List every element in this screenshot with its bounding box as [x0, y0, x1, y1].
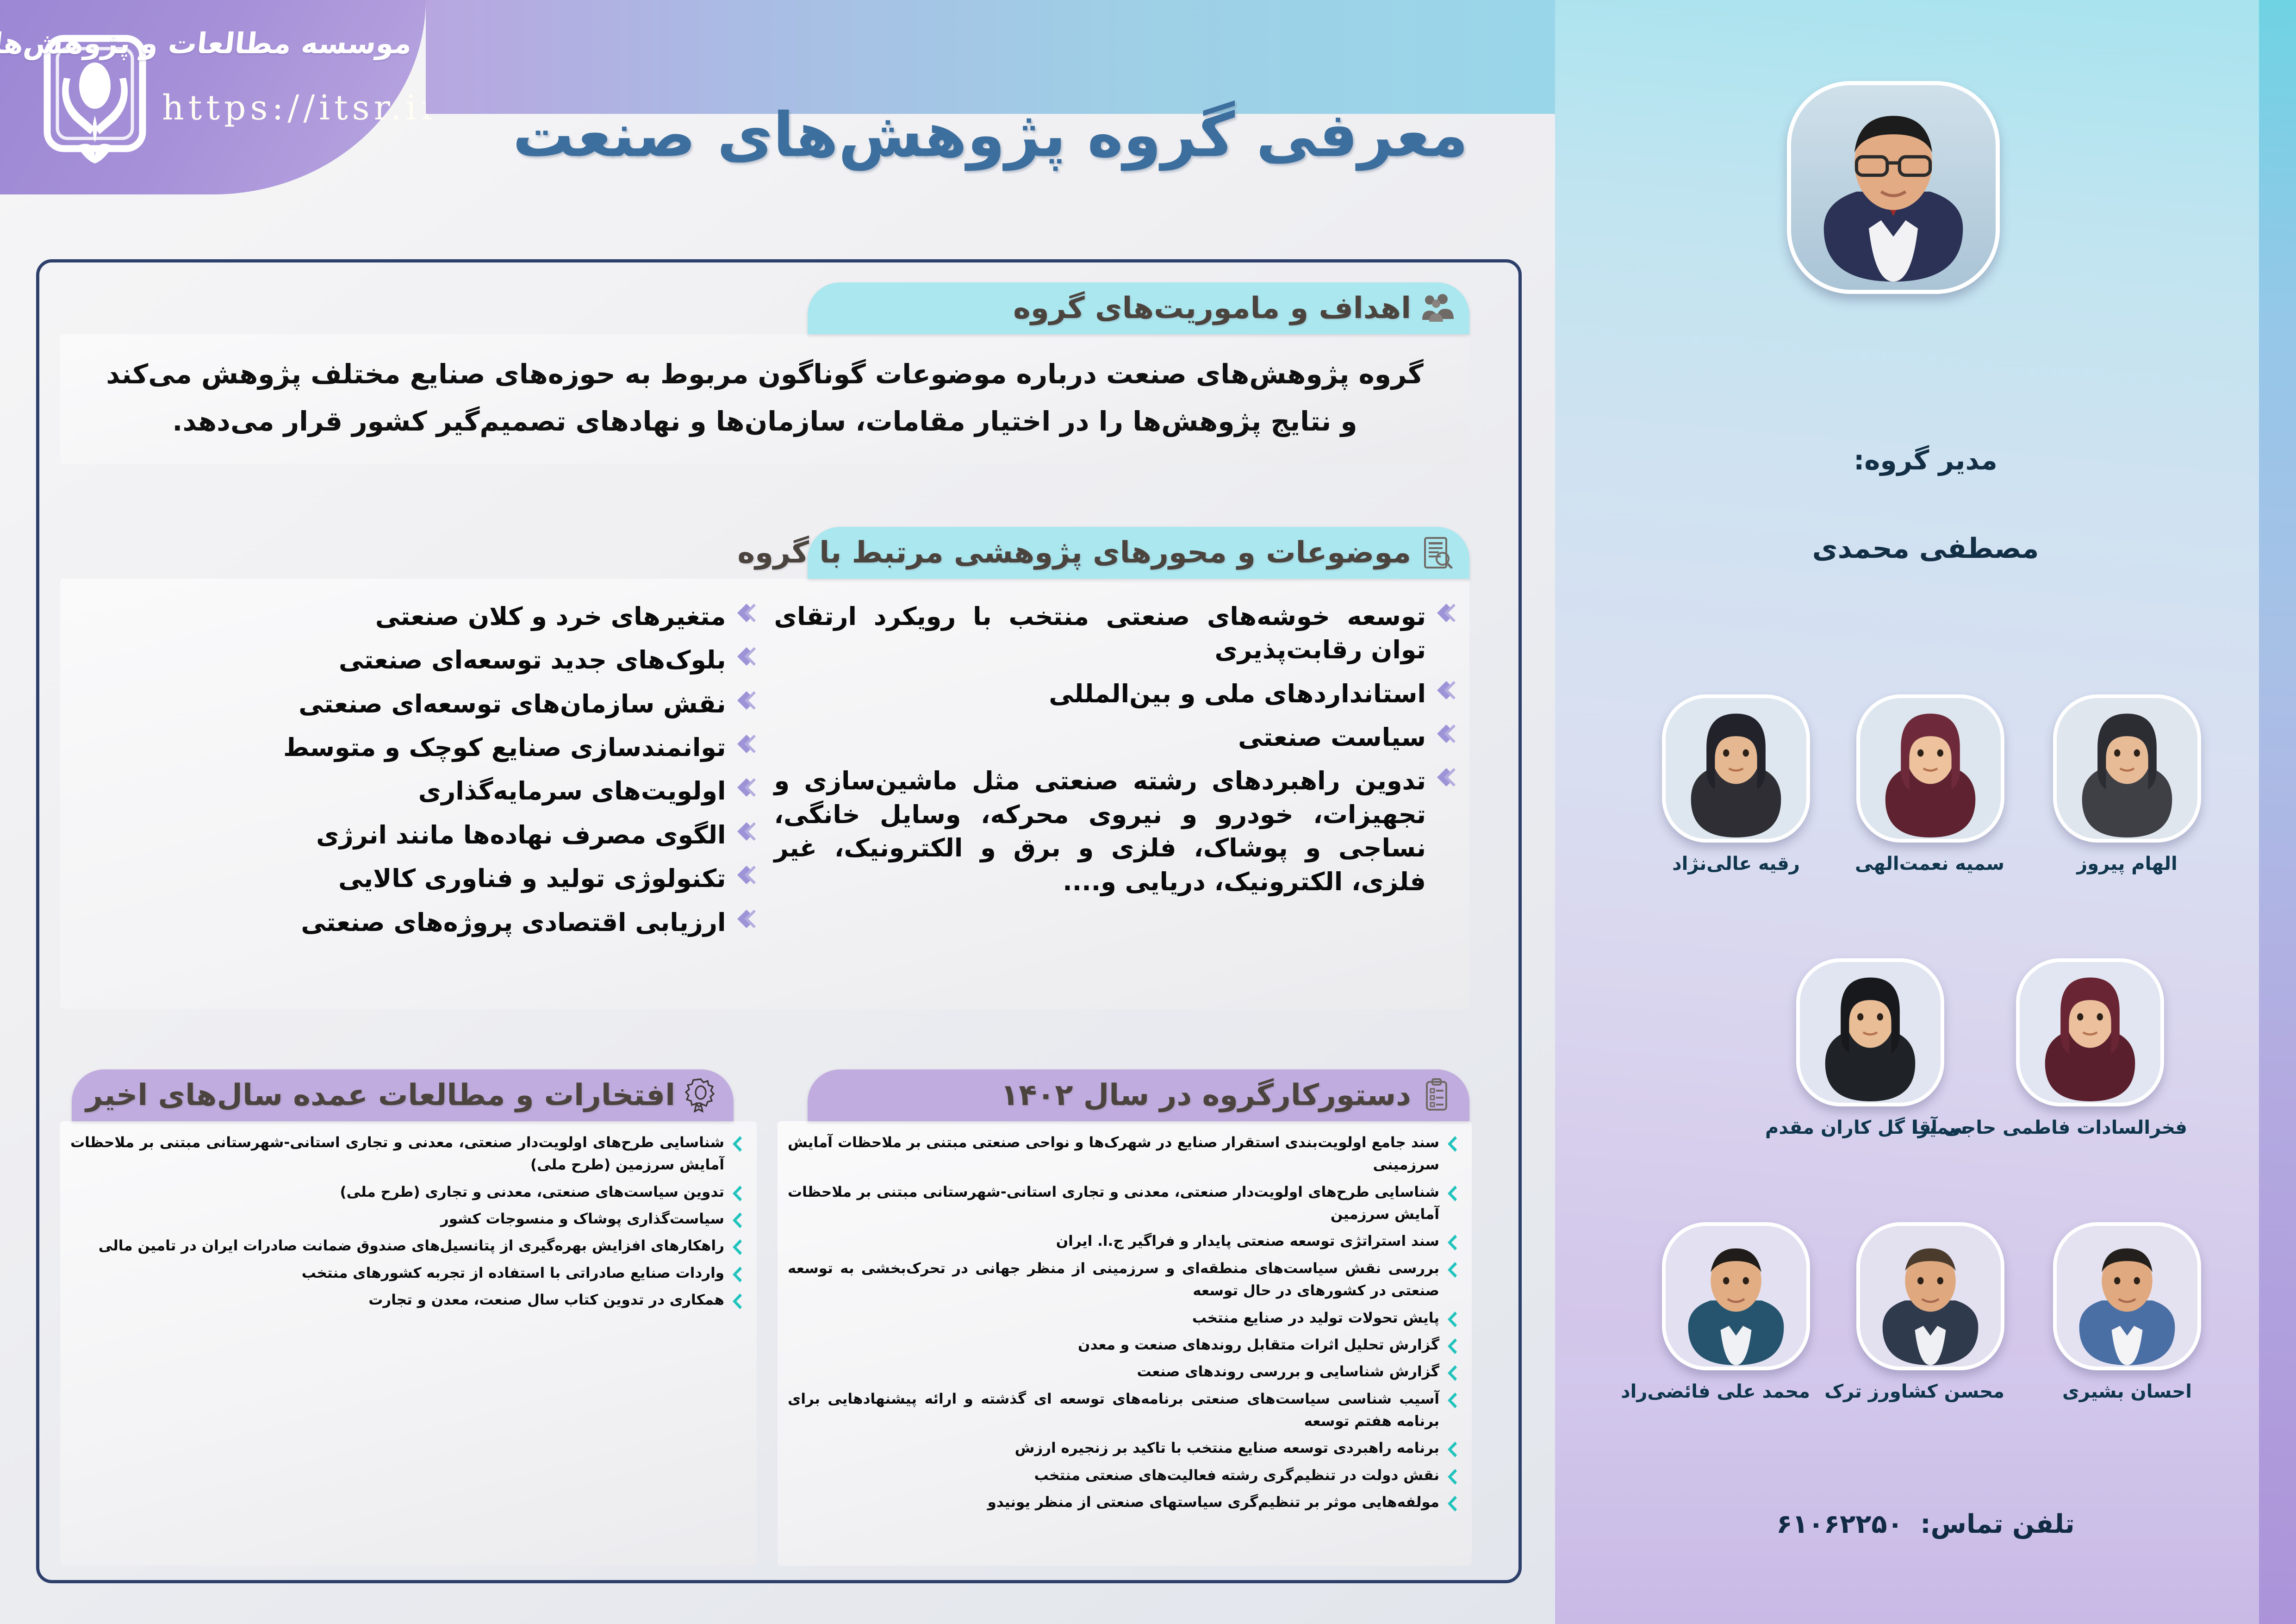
agenda-item: شناسایی طرح‌های اولویت‌دار صنعتی، معدنی … — [788, 1181, 1458, 1226]
agenda-list: سند جامع اولویت‌بندی استقرار صنایع در شه… — [778, 1121, 1472, 1523]
agenda-text: گزارش تحلیل اثرات متقابل روندهای صنعت و … — [788, 1334, 1439, 1356]
topic-item: استانداردهای ملی و بین‌المللی — [774, 677, 1456, 711]
topic-text: ارزیابی اقتصادی پروژه‌های صنعتی — [74, 906, 726, 939]
topic-text: تدوین راهبردهای رشته صنعتی مثل ماشین‌ساز… — [774, 764, 1426, 898]
topic-text: بلوک‌های جدید توسعه‌ای صنعتی — [74, 643, 726, 677]
chevron-left-icon — [731, 1238, 743, 1257]
honors-heading: افتخارات و مطالعات عمده سال‌های اخیر — [86, 1078, 675, 1112]
org-name: موسسه مطالعات و پژوهش‌های بازرگانی — [160, 28, 413, 59]
agenda-text: نقش دولت در تنظیم‌گری رشته فعالیت‌های صن… — [788, 1464, 1439, 1487]
topic-item: ارزیابی اقتصادی پروژه‌های صنعتی — [74, 906, 756, 939]
chevron-left-icon — [1446, 1185, 1458, 1203]
agenda-item: گزارش شناسایی و بررسی روندهای صنعت — [788, 1361, 1458, 1383]
team-member: الهام پیروز — [2053, 694, 2201, 875]
team-member: رقیه عالی‌نژاد — [1662, 694, 1810, 875]
topic-text: تکنولوژی تولید و فناوری کالایی — [74, 862, 726, 895]
honors-text: واردات صنایع صادراتی با استفاده از تجربه… — [70, 1262, 724, 1284]
topics-card: توسعه خوشه‌های صنعتی منتخب با رویکرد ارت… — [60, 579, 1469, 1009]
double-chevron-icon — [1434, 724, 1456, 748]
agenda-text: بررسی نقش سیاست‌های منطقه‌ای و سرزمینی ا… — [788, 1257, 1439, 1302]
topic-text: الگوی مصرف نهاده‌ها مانند انرژی — [74, 818, 726, 852]
avatar-member-7 — [1856, 1222, 2004, 1370]
agenda-item: بررسی نقش سیاست‌های منطقه‌ای و سرزمینی ا… — [788, 1257, 1458, 1302]
topic-item: متغیرهای خرد و کلان صنعتی — [74, 600, 756, 633]
chevron-left-icon — [1446, 1364, 1458, 1383]
honors-text: همکاری در تدوین کتاب سال صنعت، معدن و تج… — [70, 1289, 724, 1311]
chevron-left-icon — [1446, 1468, 1458, 1487]
topic-item: تدوین راهبردهای رشته صنعتی مثل ماشین‌ساز… — [774, 764, 1456, 898]
honors-item: سیاست‌گذاری پوشاک و منسوجات کشور — [70, 1208, 743, 1230]
agenda-item: مولفه‌هایی موثر بر تنظیم‌گری سیاستهای صن… — [788, 1491, 1458, 1513]
double-chevron-icon — [1434, 680, 1456, 704]
member-name: فخرالسادات فاطمی حاجی آقا — [1993, 1117, 2187, 1139]
chevron-left-icon — [1446, 1337, 1458, 1356]
honors-item: واردات صنایع صادراتی با استفاده از تجربه… — [70, 1262, 743, 1284]
member-name: محمد علی فائضی‌راد — [1662, 1380, 1810, 1403]
honors-list: شناسایی طرح‌های اولویت‌دار صنعتی، معدنی … — [60, 1121, 757, 1321]
topic-text: استانداردهای ملی و بین‌المللی — [774, 677, 1426, 711]
topic-item: سیاست صنعتی — [774, 721, 1456, 754]
topic-item: اولویت‌های سرمایه‌گذاری — [74, 775, 756, 808]
avatar-member-6 — [2053, 1222, 2201, 1370]
member-name: سمیه نعمت‌الهی — [1856, 853, 2004, 875]
double-chevron-icon — [734, 734, 756, 758]
honors-item: تدوین سیاست‌های صنعتی، معدنی و تجاری (طر… — [70, 1181, 743, 1203]
double-chevron-icon — [734, 821, 756, 845]
topic-text: توانمندسازی صنایع کوچک و متوسط — [74, 731, 726, 764]
avatar-member-8 — [1662, 1222, 1810, 1370]
topic-text: اولویت‌های سرمایه‌گذاری — [74, 775, 726, 808]
team-sidebar: مدیر گروه: مصطفی محمدی الهام پیروز — [1555, 0, 2296, 1624]
team-member: محسن کشاورز ترک — [1856, 1222, 2004, 1403]
chevron-left-icon — [1446, 1311, 1458, 1329]
avatar-manager — [1787, 81, 2000, 294]
sidebar-accent-edge — [2259, 0, 2296, 1624]
chevron-left-icon — [731, 1212, 743, 1230]
agenda-section-header: دستورکارگروه در سال ۱۴۰۲ — [808, 1069, 1469, 1121]
avatar-member-3 — [1662, 694, 1810, 843]
manager-role-label: مدیر گروه: — [1555, 444, 2296, 476]
honors-card: شناسایی طرح‌های اولویت‌دار صنعتی، معدنی … — [60, 1121, 757, 1566]
topic-item: الگوی مصرف نهاده‌ها مانند انرژی — [74, 818, 756, 852]
team-member: فخرالسادات فاطمی حاجی آقا — [1993, 958, 2164, 1139]
agenda-text: سند جامع اولویت‌بندی استقرار صنایع در شه… — [788, 1131, 1439, 1176]
honors-text: تدوین سیاست‌های صنعتی، معدنی و تجاری (طر… — [70, 1181, 724, 1203]
honors-section-header: افتخارات و مطالعات عمده سال‌های اخیر — [72, 1069, 734, 1121]
honors-item: راهکارهای افزایش بهره‌گیری از پتانسیل‌ها… — [70, 1235, 743, 1257]
chevron-left-icon — [1446, 1441, 1458, 1459]
honors-item: شناسایی طرح‌های اولویت‌دار صنعتی، معدنی … — [70, 1131, 743, 1176]
avatar-member-5 — [1796, 958, 1944, 1106]
contact-number: ۶۱۰۶۲۲۵۰ — [1776, 1509, 1903, 1539]
agenda-item: گزارش تحلیل اثرات متقابل روندهای صنعت و … — [788, 1334, 1458, 1356]
member-name: احسان بشیری — [2053, 1380, 2201, 1403]
chevron-left-icon — [1446, 1234, 1458, 1252]
honors-item: همکاری در تدوین کتاب سال صنعت، معدن و تج… — [70, 1289, 743, 1311]
mission-line-1: گروه پژوهش‌های صنعت درباره موضوعات گوناگ… — [87, 353, 1443, 396]
agenda-text: آسیب شناسی سیاست‌های صنعتی برنامه‌های تو… — [788, 1388, 1439, 1433]
member-name: محسن کشاورز ترک — [1856, 1380, 2004, 1403]
chevron-left-icon — [731, 1266, 743, 1284]
chevron-left-icon — [1446, 1495, 1458, 1513]
topics-left-column: توسعه خوشه‌های صنعتی منتخب با رویکرد ارت… — [770, 600, 1456, 995]
double-chevron-icon — [734, 603, 756, 627]
honors-text: شناسایی طرح‌های اولویت‌دار صنعتی، معدنی … — [70, 1131, 724, 1176]
topic-item: توانمندسازی صنایع کوچک و متوسط — [74, 731, 756, 764]
member-name: رقیه عالی‌نژاد — [1662, 853, 1810, 875]
team-member: سمیرا گل کاران مقدم — [1773, 958, 1944, 1139]
poster-root: موسسه مطالعات و پژوهش‌های بازرگانی https… — [0, 0, 2296, 1624]
topic-text: توسعه خوشه‌های صنعتی منتخب با رویکرد ارت… — [774, 600, 1426, 667]
agenda-text: مولفه‌هایی موثر بر تنظیم‌گری سیاستهای صن… — [788, 1491, 1439, 1513]
clipboard-checklist-icon — [1419, 1078, 1454, 1112]
team-member: محمد علی فائضی‌راد — [1662, 1222, 1810, 1403]
agenda-item: سند استراتژی توسعه صنعتی پایدار و فراگیر… — [788, 1230, 1458, 1252]
page-title: معرفی گروه پژوهش‌های صنعت — [426, 100, 1555, 171]
double-chevron-icon — [1434, 767, 1456, 791]
double-chevron-icon — [734, 909, 756, 933]
topics-section-header: موضوعات و محورهای پژوهشی مرتبط با گروه — [808, 527, 1469, 579]
chevron-left-icon — [731, 1135, 743, 1154]
mission-card: گروه پژوهش‌های صنعت درباره موضوعات گوناگ… — [60, 334, 1469, 464]
chevron-left-icon — [1446, 1261, 1458, 1280]
team-member: احسان بشیری — [2053, 1222, 2201, 1403]
award-ribbon-icon — [684, 1078, 718, 1112]
agenda-card: سند جامع اولویت‌بندی استقرار صنایع در شه… — [778, 1121, 1472, 1566]
agenda-text: گزارش شناسایی و بررسی روندهای صنعت — [788, 1361, 1439, 1383]
avatar-member-2 — [1856, 694, 2004, 843]
double-chevron-icon — [734, 777, 756, 801]
mission-line-2: و نتایج پژوهش‌ها را در اختیار مقامات، سا… — [87, 400, 1443, 443]
topic-item: بلوک‌های جدید توسعه‌ای صنعتی — [74, 643, 756, 677]
member-name: الهام پیروز — [2053, 853, 2201, 875]
agenda-text: سند استراتژی توسعه صنعتی پایدار و فراگیر… — [788, 1230, 1439, 1252]
double-chevron-icon — [1434, 603, 1456, 627]
agenda-text: پایش تحولات تولید در صنایع منتخب — [788, 1307, 1439, 1329]
agenda-item: سند جامع اولویت‌بندی استقرار صنایع در شه… — [788, 1131, 1458, 1176]
agenda-heading: دستورکارگروه در سال ۱۴۰۲ — [1001, 1078, 1411, 1112]
double-chevron-icon — [734, 865, 756, 889]
topic-item: توسعه خوشه‌های صنعتی منتخب با رویکرد ارت… — [774, 600, 1456, 667]
topics-columns: توسعه خوشه‌های صنعتی منتخب با رویکرد ارت… — [60, 579, 1469, 1009]
org-url[interactable]: https://itsr.ir — [162, 88, 412, 128]
agenda-item: آسیب شناسی سیاست‌های صنعتی برنامه‌های تو… — [788, 1388, 1458, 1433]
contact-phone: تلفن تماس: ۶۱۰۶۲۲۵۰ — [1555, 1509, 2296, 1539]
chevron-left-icon — [731, 1293, 743, 1311]
double-chevron-icon — [734, 646, 756, 670]
agenda-text: برنامه راهبردی توسعه صنایع منتخب با تاکی… — [788, 1437, 1439, 1459]
agenda-item: پایش تحولات تولید در صنایع منتخب — [788, 1307, 1458, 1329]
document-search-icon — [1419, 536, 1454, 570]
honors-text: سیاست‌گذاری پوشاک و منسوجات کشور — [70, 1208, 724, 1230]
chevron-left-icon — [731, 1185, 743, 1203]
avatar-member-4 — [2016, 958, 2164, 1106]
topic-text: سیاست صنعتی — [774, 721, 1426, 754]
team-member: سمیه نعمت‌الهی — [1856, 694, 2004, 875]
contact-label: تلفن تماس: — [1920, 1509, 2074, 1539]
mission-section-header: اهداف و ماموریت‌های گروه — [808, 282, 1469, 334]
manager-name: مصطفی محمدی — [1555, 532, 2296, 565]
agenda-item: برنامه راهبردی توسعه صنایع منتخب با تاکی… — [788, 1437, 1458, 1459]
mission-body: گروه پژوهش‌های صنعت درباره موضوعات گوناگ… — [60, 334, 1469, 443]
agenda-text: شناسایی طرح‌های اولویت‌دار صنعتی، معدنی … — [788, 1181, 1439, 1226]
people-group-icon — [1419, 291, 1454, 325]
member-name: سمیرا گل کاران مقدم — [1773, 1117, 1967, 1139]
agenda-item: نقش دولت در تنظیم‌گری رشته فعالیت‌های صن… — [788, 1464, 1458, 1487]
avatar-member-1 — [2053, 694, 2201, 843]
topic-text: متغیرهای خرد و کلان صنعتی — [74, 600, 726, 633]
double-chevron-icon — [734, 690, 756, 714]
topic-item: نقش سازمان‌های توسعه‌ای صنعتی — [74, 687, 756, 721]
topic-text: نقش سازمان‌های توسعه‌ای صنعتی — [74, 687, 726, 721]
topics-heading: موضوعات و محورهای پژوهشی مرتبط با گروه — [737, 536, 1411, 570]
chevron-left-icon — [1446, 1392, 1458, 1410]
honors-text: راهکارهای افزایش بهره‌گیری از پتانسیل‌ها… — [70, 1235, 724, 1257]
header-gradient-strip — [426, 0, 1555, 114]
brand-text-group: موسسه مطالعات و پژوهش‌های بازرگانی https… — [162, 28, 412, 128]
topic-item: تکنولوژی تولید و فناوری کالایی — [74, 862, 756, 895]
mission-heading: اهداف و ماموریت‌های گروه — [1013, 291, 1411, 325]
topics-right-column: متغیرهای خرد و کلان صنعتی بلوک‌های جدید … — [74, 600, 760, 995]
chevron-left-icon — [1446, 1135, 1458, 1154]
